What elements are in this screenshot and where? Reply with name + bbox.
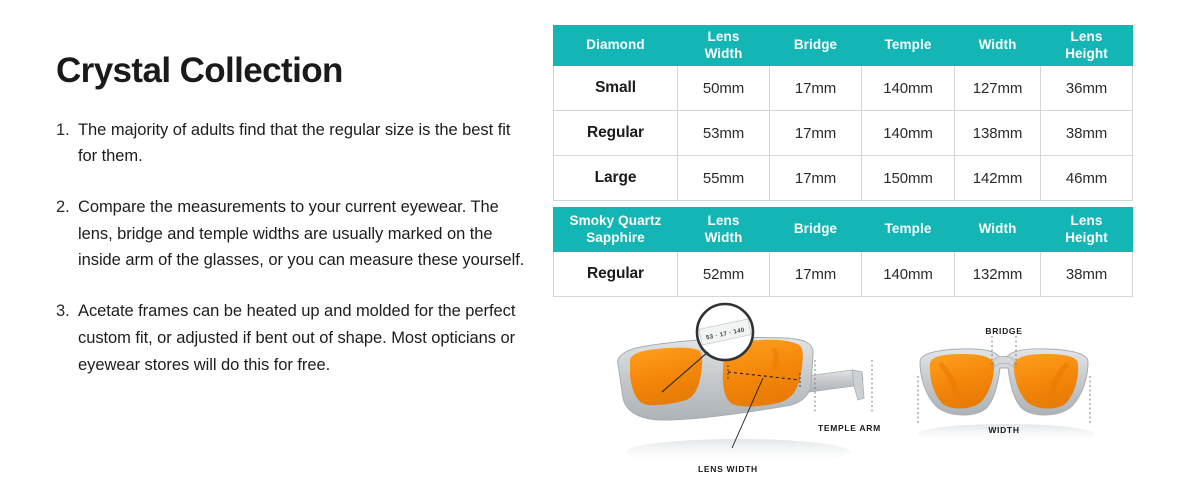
cell-temple: 140mm <box>862 252 955 297</box>
table-row: Large 55mm 17mm 150mm 142mm 46mm <box>554 156 1133 201</box>
step-number: 3. <box>56 298 78 325</box>
step-number: 2. <box>56 194 78 221</box>
cell-size-name: Regular <box>554 252 678 297</box>
width-label: WIDTH <box>988 425 1019 435</box>
column-header-bridge: Bridge <box>770 208 862 252</box>
cell-lens-width: 50mm <box>678 66 770 111</box>
column-header-width: Width <box>955 26 1041 66</box>
column-header-lens-width: Lens Width <box>678 208 770 252</box>
step-text: The majority of adults find that the reg… <box>78 117 526 170</box>
table-row: Regular 52mm 17mm 140mm 132mm 38mm <box>554 252 1133 297</box>
column-header-width: Width <box>955 208 1041 252</box>
cell-bridge: 17mm <box>770 66 862 111</box>
lens-width-label: LENS WIDTH <box>698 464 758 474</box>
cell-bridge: 17mm <box>770 156 862 201</box>
temple-arm-hinge <box>852 370 864 400</box>
left-lens <box>630 348 702 406</box>
cell-size-name: Regular <box>554 111 678 156</box>
column-header-temple: Temple <box>862 208 955 252</box>
cell-width: 138mm <box>955 111 1041 156</box>
cell-lens-width: 53mm <box>678 111 770 156</box>
glasses-shadow <box>626 439 850 465</box>
cell-width: 132mm <box>955 252 1041 297</box>
cell-lens-height: 38mm <box>1041 111 1133 156</box>
temple-arm-label: TEMPLE ARM <box>818 423 881 433</box>
fitting-steps-list: 1. The majority of adults find that the … <box>56 117 526 379</box>
list-item: 2. Compare the measurements to your curr… <box>56 194 526 274</box>
table-header-row: Diamond Lens Width Bridge Temple Width L… <box>554 26 1133 66</box>
glasses-measurement-diagram: 53 · 17 · 140 LENS WIDTH TEMPLE ARM <box>600 300 1200 500</box>
cell-lens-height: 38mm <box>1041 252 1133 297</box>
column-header-lens-width: Lens Width <box>678 26 770 66</box>
page-title: Crystal Collection <box>56 52 526 91</box>
table-row: Regular 53mm 17mm 140mm 138mm 38mm <box>554 111 1133 156</box>
step-number: 1. <box>56 117 78 144</box>
size-guide-page: Crystal Collection 1. The majority of ad… <box>0 0 1200 500</box>
step-text: Compare the measurements to your current… <box>78 194 526 274</box>
column-header-collection: Smoky Quartz Sapphire <box>554 208 678 252</box>
cell-width: 127mm <box>955 66 1041 111</box>
bridge-label: BRIDGE <box>985 326 1022 336</box>
list-item: 1. The majority of adults find that the … <box>56 117 526 170</box>
column-header-bridge: Bridge <box>770 26 862 66</box>
cell-bridge: 17mm <box>770 111 862 156</box>
cell-width: 142mm <box>955 156 1041 201</box>
front-glasses-illustration: BRIDGE WIDTH <box>918 326 1094 444</box>
cell-temple: 140mm <box>862 111 955 156</box>
cell-lens-width: 55mm <box>678 156 770 201</box>
column-header-collection: Diamond <box>554 26 678 66</box>
cell-temple: 150mm <box>862 156 955 201</box>
cell-temple: 140mm <box>862 66 955 111</box>
intro-column: Crystal Collection 1. The majority of ad… <box>56 52 526 378</box>
size-table-diamond: Diamond Lens Width Bridge Temple Width L… <box>553 25 1133 201</box>
cell-size-name: Small <box>554 66 678 111</box>
step-text: Acetate frames can be heated up and mold… <box>78 298 526 378</box>
column-header-lens-height: Lens Height <box>1041 208 1133 252</box>
angled-glasses-illustration: 53 · 17 · 140 LENS WIDTH TEMPLE ARM <box>618 304 881 474</box>
cell-size-name: Large <box>554 156 678 201</box>
cell-bridge: 17mm <box>770 252 862 297</box>
column-header-temple: Temple <box>862 26 955 66</box>
size-table-smoky-quartz-sapphire: Smoky Quartz Sapphire Lens Width Bridge … <box>553 207 1133 297</box>
list-item: 3. Acetate frames can be heated up and m… <box>56 298 526 378</box>
cell-lens-height: 46mm <box>1041 156 1133 201</box>
cell-lens-height: 36mm <box>1041 66 1133 111</box>
cell-lens-width: 52mm <box>678 252 770 297</box>
table-row: Small 50mm 17mm 140mm 127mm 36mm <box>554 66 1133 111</box>
column-header-lens-height: Lens Height <box>1041 26 1133 66</box>
table-header-row: Smoky Quartz Sapphire Lens Width Bridge … <box>554 208 1133 252</box>
